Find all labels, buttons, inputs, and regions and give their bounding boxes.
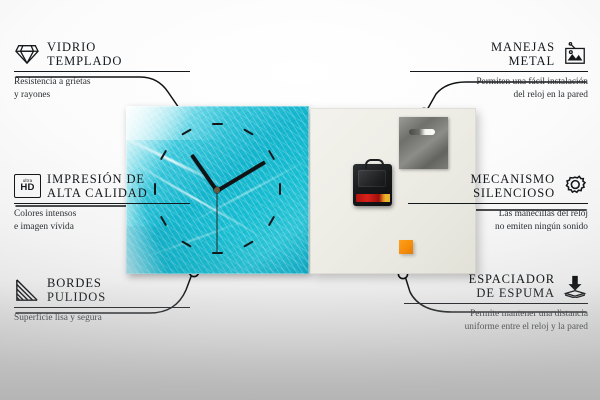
movement-housing-detail [358, 170, 386, 187]
hour-tick [212, 123, 223, 125]
callout-divider [408, 203, 588, 204]
infographic-canvas: VIDRIO TEMPLADO Resistencia a grietas y … [0, 0, 600, 400]
callout-header: BORDES PULIDOS [14, 276, 190, 304]
ultra-hd-icon-label: HD [20, 183, 34, 193]
ultra-hd-icon: ultra HD [14, 174, 40, 198]
callout-header: VIDRIO TEMPLADO [14, 40, 190, 68]
callout-description: Las manecillas del reloj no emiten ningú… [408, 208, 588, 233]
feature-callout-manejas-metal[interactable]: MANEJAS METAL Permiten una fácil instala… [410, 40, 588, 101]
callout-title: VIDRIO TEMPLADO [47, 40, 122, 68]
callout-divider [14, 203, 190, 204]
callout-title: ESPACIADOR DE ESPUMA [469, 272, 555, 300]
hanger-keyhole-slot [409, 129, 435, 135]
feature-callout-mecanismo-silencioso[interactable]: MECANISMO SILENCIOSO Las manecillas del … [408, 172, 588, 233]
battery [356, 194, 388, 202]
callout-divider [14, 71, 190, 72]
hour-tick [243, 128, 254, 135]
picture-frame-icon [562, 42, 588, 66]
arrow-down-spacer-icon [562, 274, 588, 298]
callout-description: Permite mantener una distancia uniforme … [404, 308, 588, 333]
metal-hanger-plate[interactable] [399, 117, 448, 169]
hour-tick [268, 150, 275, 161]
feature-callout-impresion-alta-calidad[interactable]: ultra HD IMPRESIÓN DE ALTA CALIDAD Color… [14, 172, 190, 233]
callout-header: ESPACIADOR DE ESPUMA [404, 272, 588, 300]
hour-hand [190, 154, 219, 192]
foam-spacer[interactable] [399, 240, 413, 254]
hour-tick [243, 240, 254, 247]
hour-tick [279, 183, 281, 195]
hour-tick [181, 128, 192, 135]
callout-description: Superficie lisa y segura [14, 312, 190, 324]
callout-header: MECANISMO SILENCIOSO [408, 172, 588, 200]
minute-hand [216, 160, 266, 192]
callout-divider [14, 307, 190, 308]
feature-callout-vidrio-templado[interactable]: VIDRIO TEMPLADO Resistencia a grietas y … [14, 40, 190, 101]
diamond-icon [14, 42, 40, 66]
callout-header: MANEJAS METAL [410, 40, 588, 68]
gear-icon [562, 174, 588, 198]
hour-tick [181, 240, 192, 247]
callout-description: Permiten una fácil instalación del reloj… [410, 76, 588, 101]
feature-callout-bordes-pulidos[interactable]: BORDES PULIDOS Superficie lisa y segura [14, 276, 190, 325]
hour-tick [268, 216, 275, 227]
callout-title: BORDES PULIDOS [47, 276, 106, 304]
callout-title: IMPRESIÓN DE ALTA CALIDAD [47, 172, 148, 200]
callout-header: ultra HD IMPRESIÓN DE ALTA CALIDAD [14, 172, 190, 200]
battery-terminal [385, 194, 390, 202]
feature-callout-espaciador-espuma[interactable]: ESPACIADOR DE ESPUMA Permite mantener un… [404, 272, 588, 333]
second-hand [217, 192, 218, 254]
callout-title: MECANISMO SILENCIOSO [471, 172, 556, 200]
callout-description: Resistencia a grietas y rayones [14, 76, 190, 101]
callout-divider [404, 303, 588, 304]
callout-title: MANEJAS METAL [491, 40, 555, 68]
quartz-movement[interactable] [353, 164, 392, 206]
movement-hook [365, 159, 384, 169]
hour-tick [160, 150, 167, 161]
hands-center-cap [214, 187, 220, 193]
callout-divider [410, 71, 588, 72]
callout-description: Colores intensos e imagen vívida [14, 208, 190, 233]
polished-edge-icon [14, 278, 40, 302]
hour-tick [212, 252, 223, 254]
